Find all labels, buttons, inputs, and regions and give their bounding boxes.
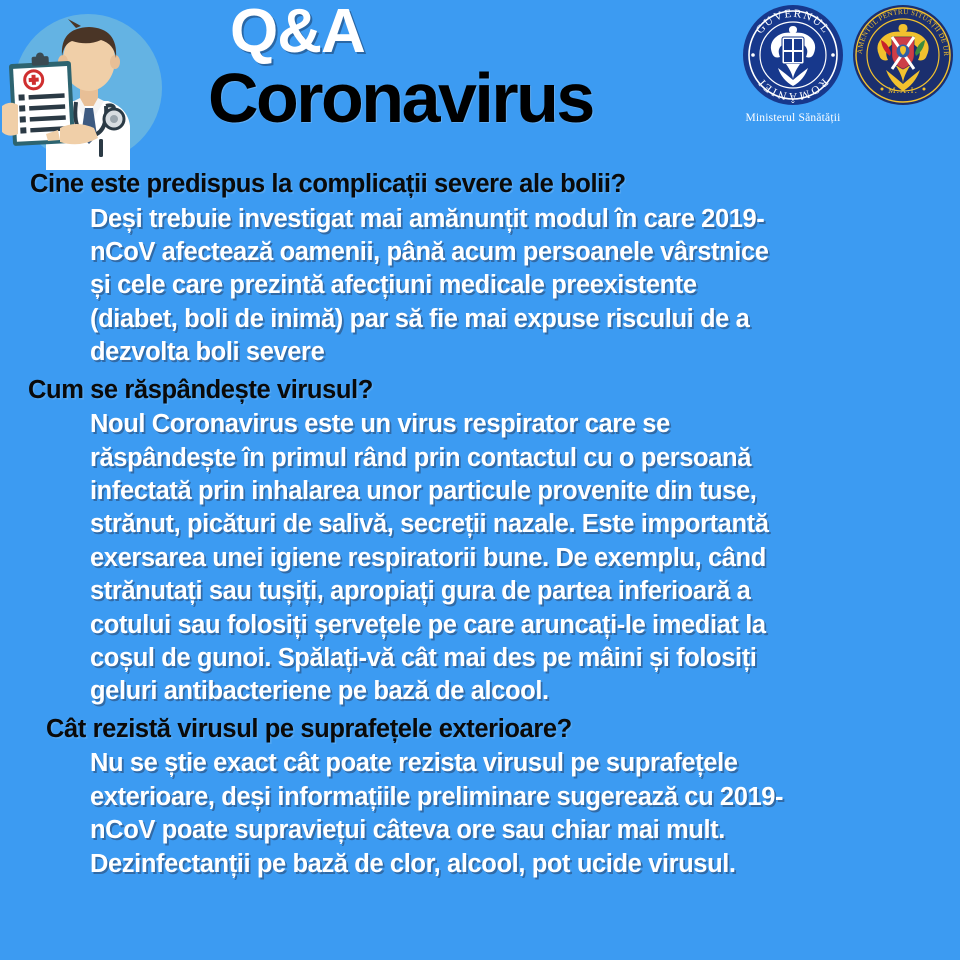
qa-content: Cine este predispus la complicații sever… [0,168,960,885]
answer-line: (diabet, boli de inimă) par să fie mai e… [90,303,944,336]
answer-line: strănutați sau tușiți, apropiați gura de… [90,575,944,608]
answer-text: Nu se știe exact cât poate rezista virus… [28,747,944,881]
answer-line: Noul Coronavirus este un virus respirato… [90,408,944,441]
poster-title-qa: Q&A [208,2,718,63]
answer-line: nCoV afectează oamenii, până acum persoa… [90,236,944,269]
qa-item: Cum se răspândește virusul? Noul Coronav… [28,374,944,709]
answer-line: exterioare, deși informațiile preliminar… [90,781,944,814]
qa-item: Cât rezistă virusul pe suprafețele exter… [28,713,944,881]
coronavirus-qa-poster: Q&A Coronavirus GUVERNUL [0,0,960,960]
ministry-caption: Ministerul Sănătății [742,112,844,124]
answer-line: infectată prin inhalarea unor particule … [90,475,944,508]
answer-line: răspândește în primul rând prin contactu… [90,442,944,475]
answer-line: cotului sau folosiți șervețele pe care a… [90,609,944,642]
guvernul-romaniei-seal-icon: GUVERNUL ROMÂNIEI [742,4,844,106]
dsu-mai-seal-icon: DEPARTAMENTUL PENTRU SITUAȚII DE URGENȚĂ… [852,4,954,106]
question-heading: Cum se răspândește virusul? [28,374,944,407]
poster-title-main: Coronavirus [208,63,718,133]
qa-item: Cine este predispus la complicații sever… [28,168,944,370]
logo-group: GUVERNUL ROMÂNIEI [742,4,954,124]
answer-line: dezvolta boli severe [90,336,944,369]
answer-line: Dezinfectanții pe bază de clor, alcool, … [90,848,944,881]
guvernul-romaniei-logo: GUVERNUL ROMÂNIEI [742,4,844,124]
answer-line: și cele care prezintă afecțiuni medicale… [90,269,944,302]
answer-line: nCoV poate supraviețui câteva ore sau ch… [90,814,944,847]
poster-header: Q&A Coronavirus GUVERNUL [0,0,960,168]
question-heading: Cât rezistă virusul pe suprafețele exter… [28,713,944,746]
answer-line: geluri antibacteriene pe bază de alcool. [90,675,944,708]
answer-line: coșul de gunoi. Spălați-vă cât mai des p… [90,642,944,675]
answer-line: strănut, picături de salivă, secreții na… [90,508,944,541]
answer-line: Nu se știe exact cât poate rezista virus… [90,747,944,780]
question-heading: Cine este predispus la complicații sever… [28,168,944,201]
dsu-mai-logo: DEPARTAMENTUL PENTRU SITUAȚII DE URGENȚĂ… [852,4,954,111]
answer-line: exersarea unei igiene respiratorii bune.… [90,542,944,575]
title-block: Q&A Coronavirus [208,2,718,133]
doctor-illustration [2,8,174,170]
answer-line: Deși trebuie investigat mai amănunțit mo… [90,203,944,236]
answer-text: Noul Coronavirus este un virus respirato… [28,408,944,709]
answer-text: Deși trebuie investigat mai amănunțit mo… [28,203,944,370]
